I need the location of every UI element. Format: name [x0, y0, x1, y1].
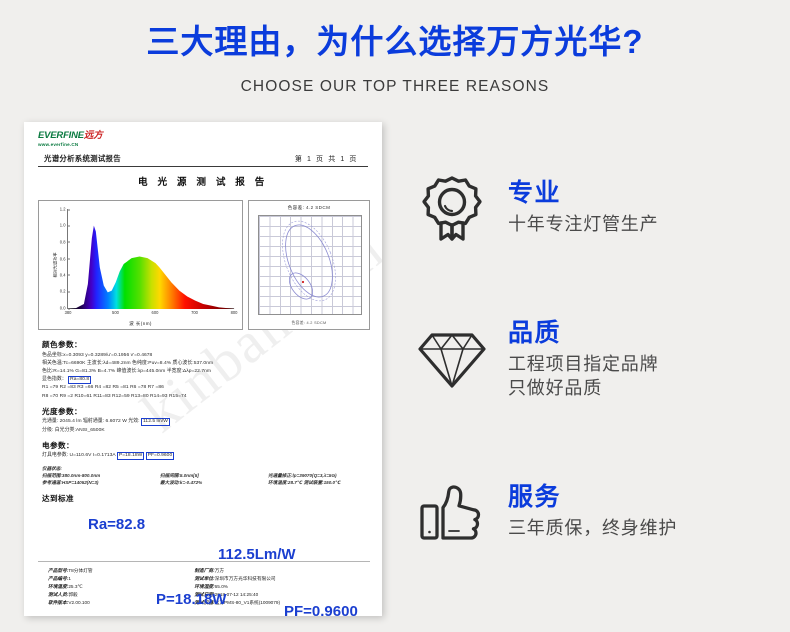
footer-label: 产品型号:: [48, 568, 68, 573]
page-subtitle: CHOOSE OUR TOP THREE REASONS: [0, 78, 790, 96]
power-value-box: P=18.18W: [117, 452, 144, 460]
instrument-cell: 扫描范围:380.0nm-800.0nm: [42, 472, 160, 479]
color-line: 色品坐标:x=0.3093 y=0.3289/u'=0.1956 v'=0.46…: [42, 352, 368, 360]
page-content: kinbanshon EVERFINE远方 www.everfine.CN 光谱…: [0, 122, 790, 632]
annotation-power: P=18.18W: [156, 591, 226, 608]
diamond-icon: [404, 329, 500, 391]
report-title: 电 光 源 测 试 报 告: [24, 174, 382, 188]
cri-row: R1 =79 R2 =83 R3 =66 R4 =82 R5 =81 R6 =7…: [42, 384, 368, 392]
footer-label: 制造厂商:: [194, 568, 214, 573]
footer-row: 测试单位:深圳市万方光华科技有限公司: [194, 575, 370, 583]
footer-row: 环境湿度:65.0%: [194, 583, 370, 591]
logo-site: www.everfine.CN: [38, 142, 103, 147]
chromaticity-title: 色容差: 4.2 SDCM: [249, 205, 369, 211]
page-title: 三大理由，为什么选择万方光华?: [0, 22, 790, 62]
color-line: 相关色温:Tc=6690K 主波长:λd=489.2nm 色纯度:Puv=8.4…: [42, 360, 368, 368]
instrument-row: 扫描范围:380.0nm-800.0nm 扫描间隔:5.0nm[5] 光通量修正…: [42, 472, 368, 479]
footer-value: T8分体灯管: [68, 568, 92, 573]
spectrum-xtick: 800: [231, 308, 238, 315]
footer-label: 测试单位:: [194, 576, 214, 581]
reason-title: 服务: [508, 483, 677, 512]
macadam-ellipse: [259, 216, 363, 316]
reason-text: 专业 十年专注灯管生产: [500, 179, 658, 237]
footer-label: 测试人员:: [48, 592, 68, 597]
logo-brand: EVERFINE: [38, 130, 84, 141]
photometric-values: 光通量: 2045.4 lm 辐射通量: 6.6072 W 光效:: [42, 419, 140, 424]
thumbs-up-icon: [404, 482, 500, 542]
spectrum-ytick: 1.0: [60, 223, 68, 228]
report-charts: 相对光谱功率 1.2 1.0 0.8 0.6 0.4 0.2 0.0 380 5…: [38, 200, 370, 330]
instrument-cell: 最大波动:k=-0.472%: [160, 479, 268, 486]
electrical-values: 灯具电参数: U=110.6V I=0.1713A: [42, 453, 115, 458]
logo-brand-cn: 远方: [84, 130, 103, 141]
reason-item-professional: 专业 十年专注灯管生产: [404, 132, 784, 284]
electrical-line: 灯具电参数: U=110.6V I=0.1713A P=18.18W PF=0.…: [42, 452, 368, 460]
report-system-name: 光谱分析系统测试报告: [38, 153, 121, 164]
report-body: 颜色参数： 色品坐标:x=0.3093 y=0.3289/u'=0.1956 v…: [42, 334, 368, 504]
annotation-ra: Ra=82.8: [88, 516, 145, 533]
spectrum-chart: 相对光谱功率 1.2 1.0 0.8 0.6 0.4 0.2 0.0 380 5…: [38, 200, 243, 330]
instrument-row: 参考通道:HSP=14052(N=3) 最大波动:k=-0.472% 环境温度:…: [42, 479, 368, 486]
electrical-section-heading: 电参数：: [42, 440, 368, 451]
footer-row: 制造厂商:万方: [194, 567, 370, 575]
spectrum-ytick: 0.2: [60, 289, 68, 294]
reason-item-quality: 品质 工程项目指定品牌 只做好品质: [404, 284, 784, 436]
reason-desc: 工程项目指定品牌 只做好品质: [508, 352, 658, 402]
cri-line: 显色指数： Ra=80.8: [42, 376, 368, 384]
reason-item-service: 服务 三年质保，终身维护: [404, 436, 784, 588]
report-page-number: 第 1 页 共 1 页: [295, 154, 368, 164]
footer-value: 万方: [215, 568, 224, 573]
chromaticity-plot-area: [258, 215, 362, 315]
color-section-heading: 颜色参数：: [42, 339, 368, 350]
spectrum-xtick: 380: [65, 308, 72, 315]
reason-title: 专业: [508, 179, 658, 208]
spectrum-xtick: 600: [152, 308, 159, 315]
instrument-cell: 光通量修正:lp=39070(Q=3,λ=5G): [268, 472, 368, 479]
photometric-section-heading: 光度参数：: [42, 406, 368, 417]
cri-row: R8 =70 R9 =2 R10=61 R11=83 R12=59 R13=80…: [42, 393, 368, 401]
reason-text: 品质 工程项目指定品牌 只做好品质: [500, 319, 658, 401]
instrument-cell: 环境温度:28.7℃ 测试装置:150.0℃: [268, 479, 368, 486]
instrument-cell: 参考通道:HSP=14052(N=3): [42, 479, 160, 486]
report-headline: 光谱分析系统测试报告 第 1 页 共 1 页: [38, 153, 368, 167]
page-header: 三大理由，为什么选择万方光华? CHOOSE OUR TOP THREE REA…: [0, 0, 790, 96]
spectrum-y-axis-label: 相对光谱功率: [53, 252, 59, 277]
test-report-document: kinbanshon EVERFINE远方 www.everfine.CN 光谱…: [24, 122, 382, 616]
promo-page: 三大理由，为什么选择万方光华? CHOOSE OUR TOP THREE REA…: [0, 0, 790, 632]
annotation-efficacy: 112.5Lm/W: [218, 546, 296, 563]
footer-label: 环境温度:: [48, 584, 68, 589]
spectrum-plot-area: 1.2 1.0 0.8 0.6 0.4 0.2 0.0 380 500 600 …: [67, 209, 234, 309]
footer-value: 65.0%: [215, 584, 228, 589]
reason-title: 品质: [508, 319, 658, 348]
spectrum-ytick: 1.2: [60, 207, 68, 212]
footer-value: 25.3℃: [68, 584, 82, 589]
color-line: 色比:R=14.1% G=81.3% B=4.7% 峰值波长:λp=445.0n…: [42, 368, 368, 376]
footer-label: 环境湿度:: [194, 584, 214, 589]
standard-result: 达到标准: [42, 493, 368, 504]
spectrum-xtick: 500: [112, 308, 119, 315]
footer-row: 环境温度:25.3℃: [48, 583, 194, 591]
chromaticity-chart: 色容差: 4.2 SDCM 色容差: 4.2 SDCM: [248, 200, 370, 330]
spectrum-ytick: 0.8: [60, 239, 68, 244]
power-factor-value-box: PF=0.9600: [146, 452, 175, 460]
footer-value: 郭毅: [68, 592, 77, 597]
chromaticity-footer: 色容差: 4.2 SDCM: [249, 321, 369, 326]
footer-value: 1: [68, 576, 71, 581]
everfine-logo: EVERFINE远方 www.everfine.CN: [38, 131, 103, 147]
footer-label: 软件版本:: [48, 600, 68, 605]
footer-value: 深圳市万方光华科技有限公司: [215, 576, 276, 581]
instrument-cell: 扫描间隔:5.0nm[5]: [160, 472, 268, 479]
instrument-heading: 仪器状态:: [42, 465, 368, 472]
spectrum-ytick: 0.6: [60, 256, 68, 261]
footer-row: 产品型号:T8分体灯管: [48, 567, 194, 575]
reasons-list: 专业 十年专注灯管生产 品质 工程项目指定品牌 只做好品质: [404, 132, 784, 588]
footer-value: V2.00.100: [68, 600, 89, 605]
footer-row: 产品编号:1: [48, 575, 194, 583]
photometric-line: 光通量: 2045.4 lm 辐射通量: 6.6072 W 光效: 112.5 …: [42, 418, 368, 426]
spectrum-x-axis-label: 波 长(nm): [39, 321, 242, 327]
spectrum-xtick: 700: [191, 308, 198, 315]
photometric-line: 分级: 白光分类:ANSI_6500K: [42, 427, 368, 435]
reason-desc: 十年专注灯管生产: [508, 212, 658, 237]
spectrum-ytick: 0.4: [60, 272, 68, 277]
cri-label: 显色指数：: [42, 377, 67, 382]
reason-desc: 三年质保，终身维护: [508, 516, 677, 541]
efficacy-value-box: 112.5 lm/W: [141, 418, 170, 426]
spectrum-curve: [68, 209, 235, 309]
ra-value-box: Ra=80.8: [68, 376, 91, 384]
annotation-power-factor: PF=0.9600: [284, 603, 358, 620]
footer-label: 产品编号:: [48, 576, 68, 581]
reason-text: 服务 三年质保，终身维护: [500, 483, 677, 541]
medal-icon: [404, 175, 500, 241]
